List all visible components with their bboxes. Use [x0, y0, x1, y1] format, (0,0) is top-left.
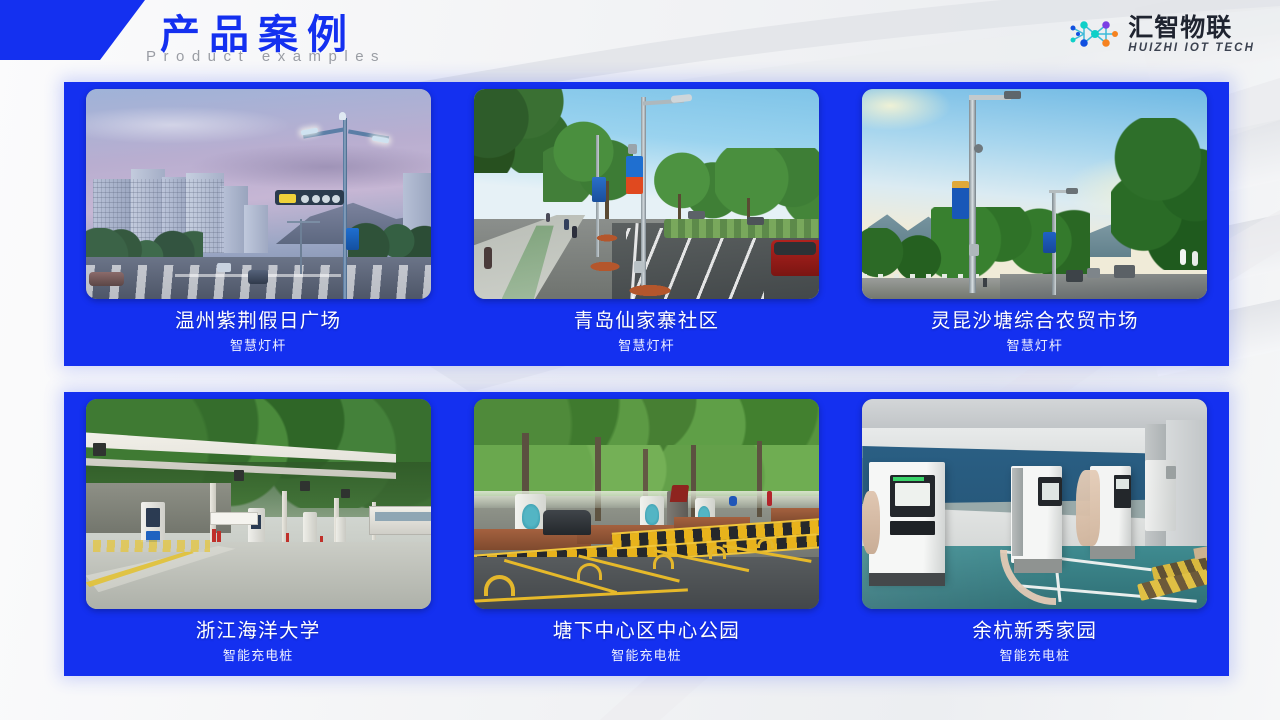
case-card[interactable]: 灵昆沙塘综合农贸市场 智慧灯杆 [841, 82, 1229, 366]
page-subtitle: Product examples [146, 48, 386, 65]
case-subtitle: 智能充电桩 [452, 645, 840, 664]
case-title: 灵昆沙塘综合农贸市场 [841, 304, 1229, 333]
case-card[interactable]: 浙江海洋大学 智能充电桩 [64, 392, 452, 676]
case-title: 塘下中心区中心公园 [452, 614, 840, 643]
case-card[interactable]: 青岛仙家寨社区 智慧灯杆 [452, 82, 840, 366]
case-card[interactable]: 温州紫荆假日广场 智慧灯杆 [64, 82, 452, 366]
logo-name-cn: 汇智物联 [1128, 15, 1232, 41]
company-logo: 汇智物联 HUIZHI IOT TECH [1069, 14, 1255, 54]
case-title: 青岛仙家寨社区 [452, 304, 840, 333]
case-subtitle: 智慧灯杆 [64, 335, 452, 354]
case-image-dusk-city-street [86, 89, 431, 299]
case-subtitle: 智能充电桩 [64, 645, 452, 664]
case-subtitle: 智慧灯杆 [841, 335, 1229, 354]
molecule-network-icon [1069, 14, 1121, 54]
ev-charging-row: 浙江海洋大学 智能充电桩 [64, 392, 1229, 676]
case-subtitle: 智能充电桩 [841, 645, 1229, 664]
logo-name-en: HUIZHI IOT TECH [1128, 42, 1255, 54]
case-card[interactable]: 塘下中心区中心公园 智能充电桩 [452, 392, 840, 676]
smart-lamp-pole-row: 温州紫荆假日广场 智慧灯杆 [64, 82, 1229, 366]
case-card[interactable]: 余杭新秀家园 智能充电桩 [841, 392, 1229, 676]
case-image-indoor-garage-chargers [862, 399, 1207, 609]
case-title: 余杭新秀家园 [841, 614, 1229, 643]
case-image-charging-station-canopy [86, 399, 431, 609]
header-accent-wedge [0, 0, 145, 60]
case-image-parking-lot-chargers [474, 399, 819, 609]
case-subtitle: 智慧灯杆 [452, 335, 840, 354]
case-title: 浙江海洋大学 [64, 614, 452, 643]
case-image-tree-lined-street [474, 89, 819, 299]
case-title: 温州紫荆假日广场 [64, 304, 452, 333]
case-image-rural-road-smart-poles [862, 89, 1207, 299]
slide-header: 产品案例 Product examples 汇智物联 [0, 0, 1280, 68]
logo-text: 汇智物联 HUIZHI IOT TECH [1128, 15, 1255, 54]
